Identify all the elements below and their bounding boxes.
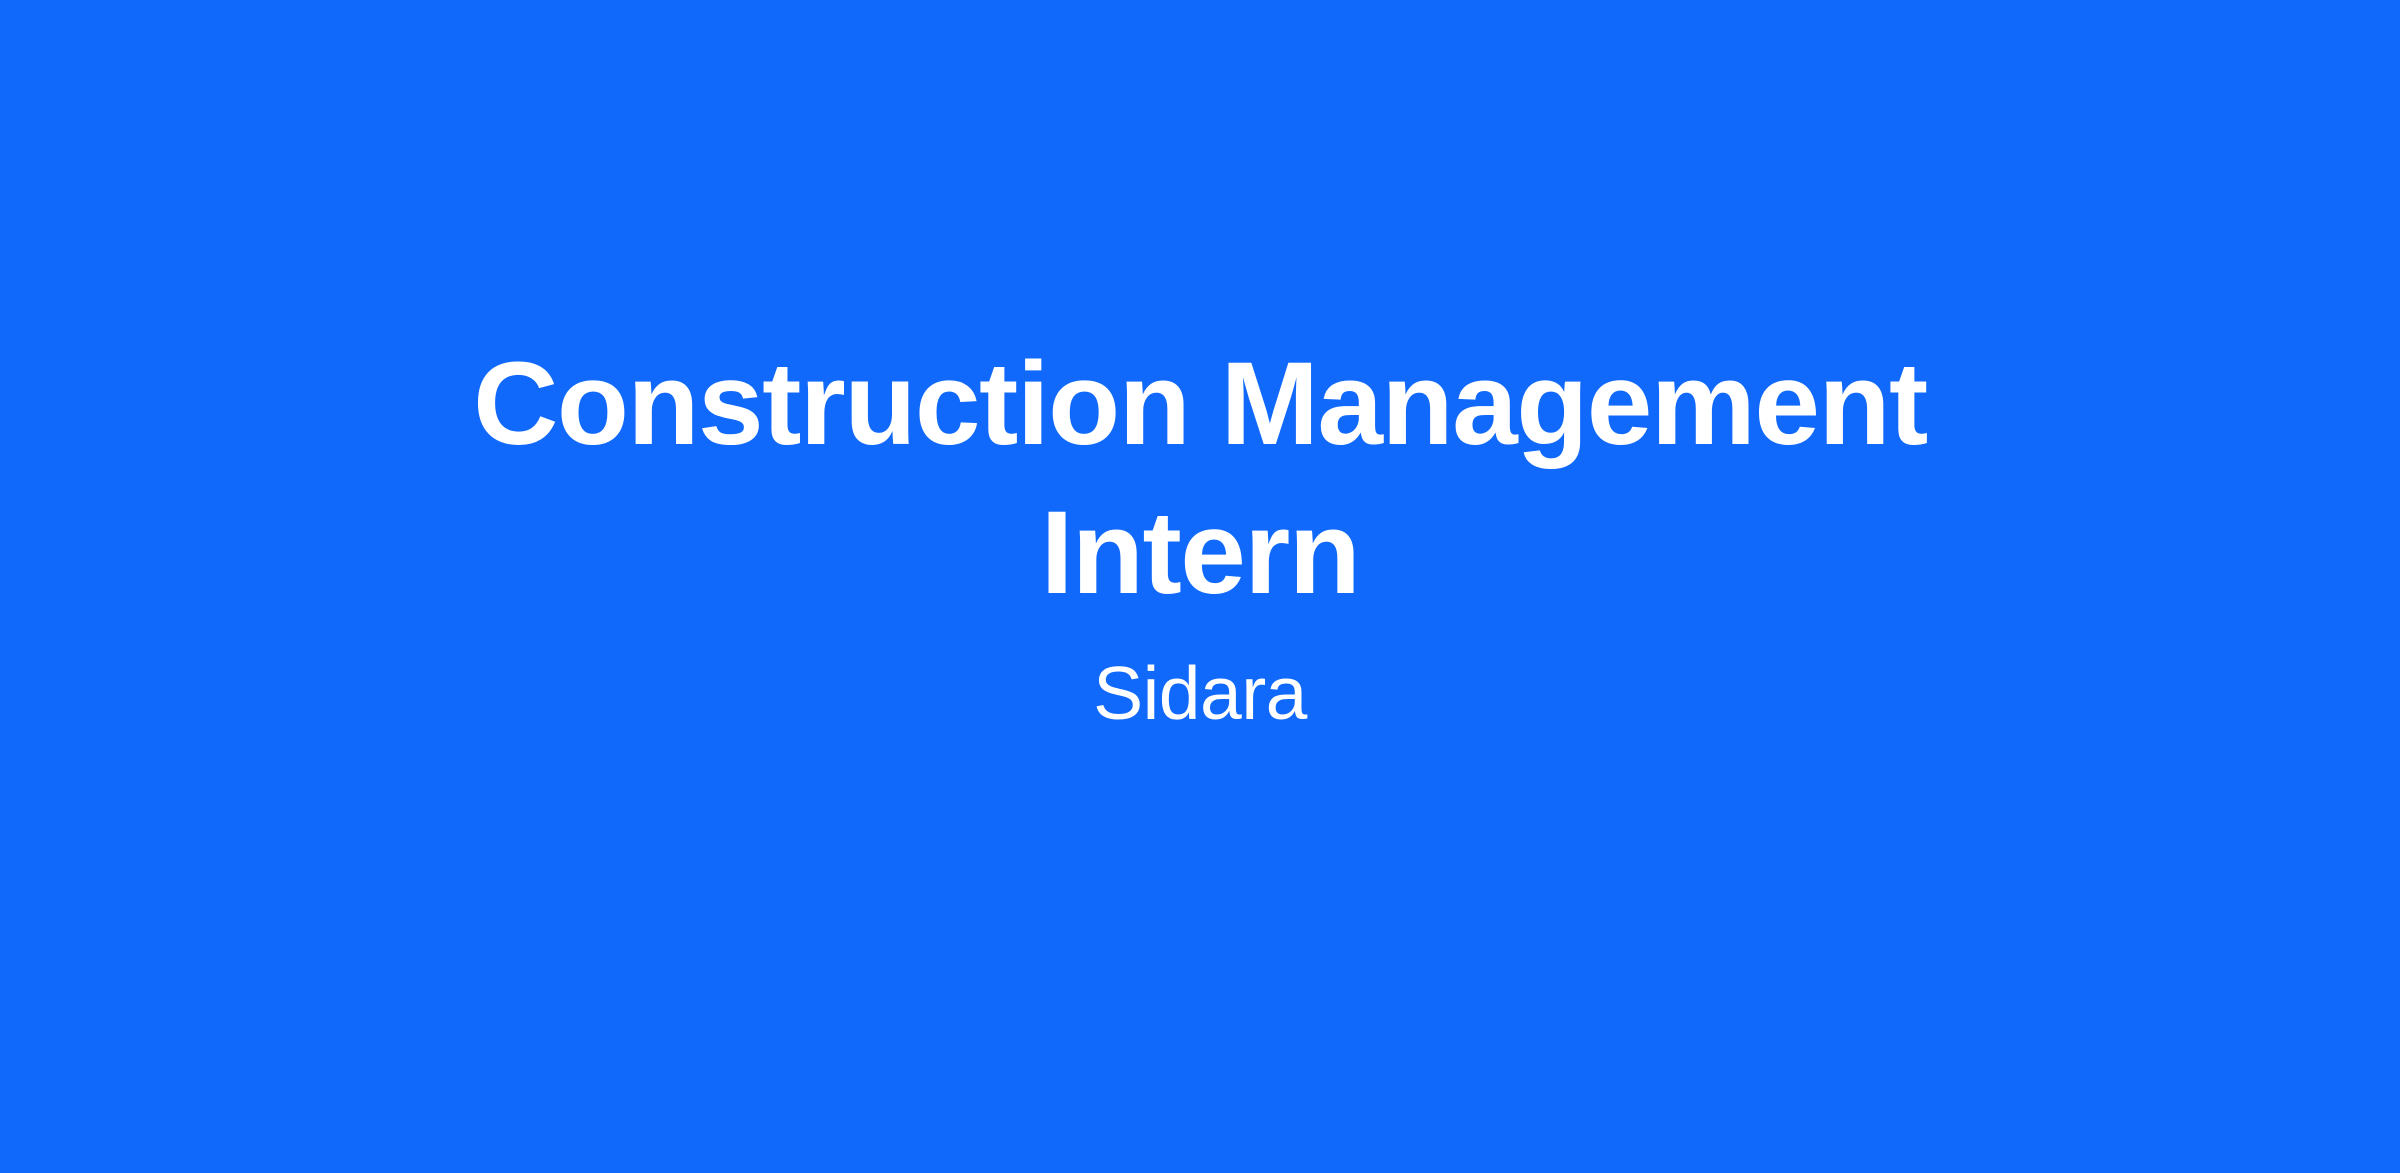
job-posting-hero: Construction Management Intern Sidara: [0, 0, 2400, 1173]
company-name: Sidara: [420, 645, 1980, 743]
page-title: Construction Management Intern: [420, 330, 1980, 627]
hero-content-block: Construction Management Intern Sidara: [420, 330, 1980, 743]
